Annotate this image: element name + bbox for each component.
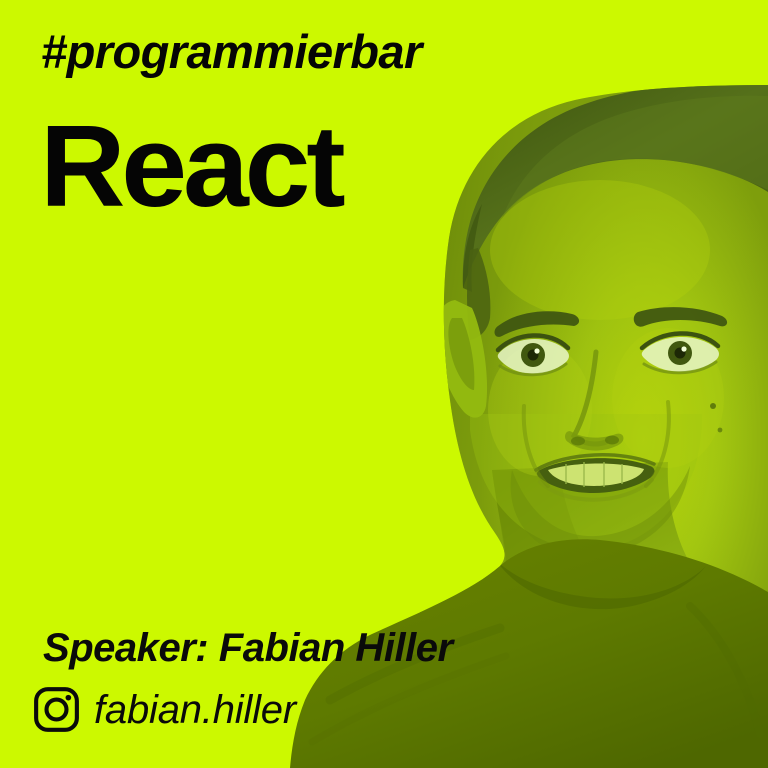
instagram-handle-text: fabian.hiller (94, 688, 296, 732)
instagram-handle-row: fabian.hiller (33, 686, 296, 733)
page-title: React (40, 108, 342, 224)
podcast-promo-poster: #programmierbar React Speaker: Fabian Hi… (0, 0, 768, 768)
instagram-icon (33, 686, 80, 733)
speaker-name-line: Speaker: Fabian Hiller (43, 626, 453, 670)
brand-hashtag: #programmierbar (41, 28, 422, 75)
